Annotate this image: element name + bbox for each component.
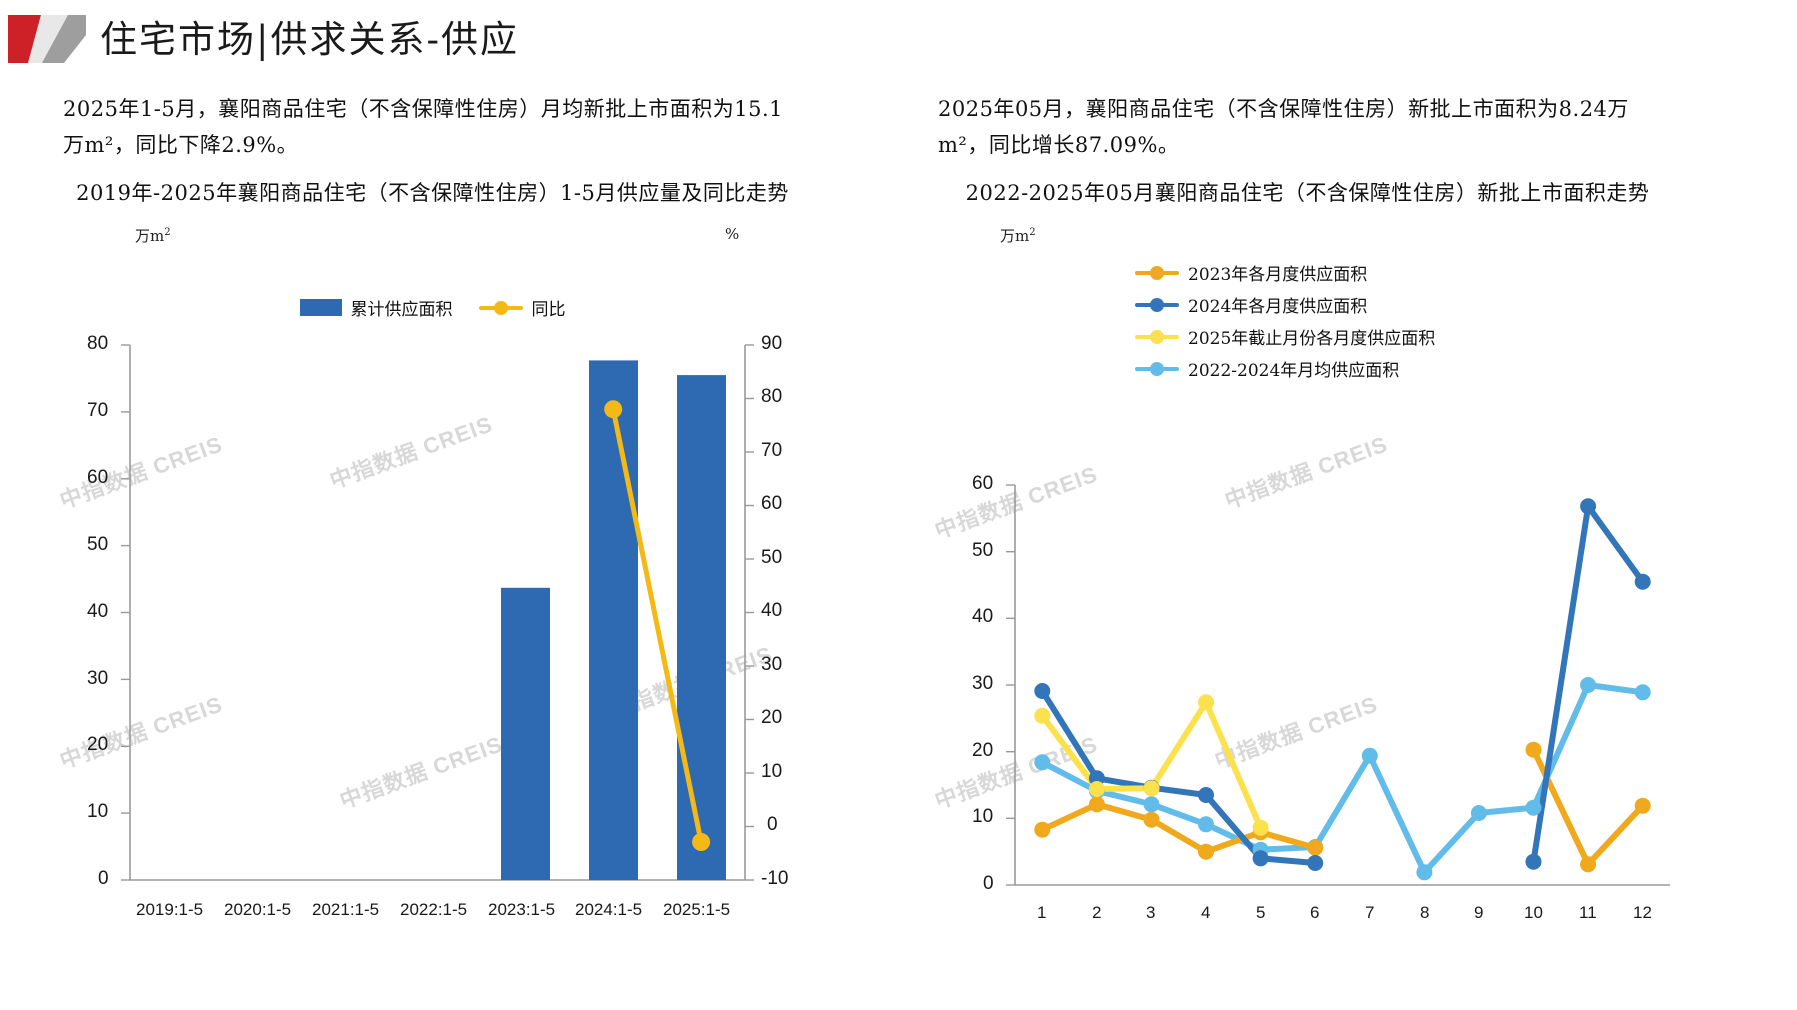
y-tick-30: 30 [972,673,993,695]
right-chart-svg [920,395,1695,955]
right-chart-plot: 中指数据 CREIS 中指数据 CREIS 中指数据 CREIS 中指数据 CR… [920,395,1695,955]
left-chart-title: 2019年-2025年襄阳商品住宅（不含保障性住房）1-5月供应量及同比走势 [55,175,810,211]
left-axis-unit-left: 万m2 [135,225,171,246]
y-tick-10: 10 [972,806,993,828]
creis-logo [8,15,86,63]
x-cat-3: 3 [1146,903,1155,923]
left-chart-legend: 累计供应面积 同比 [45,295,820,320]
bar-2023 [501,588,550,880]
y2-tick-70: 70 [761,440,782,462]
x-cat-2023: 2023:1-5 [488,900,555,920]
y2-tick-90: 90 [761,333,782,355]
y-tick-10: 10 [87,801,108,823]
line-swatch-icon [1135,296,1179,314]
legend-label: 2022-2024年月均供应面积 [1188,356,1399,381]
legend-label: 同比 [532,295,566,320]
y2-tick-0: 0 [767,814,778,836]
x-cat-7: 7 [1365,903,1374,923]
x-cat-12: 12 [1633,903,1652,923]
y2-tick-50: 50 [761,547,782,569]
left-panel: 2025年1-5月，襄阳商品住宅（不含保障性住房）月均新批上市面积为15.1万m… [45,85,820,1000]
left-summary-text: 2025年1-5月，襄阳商品住宅（不含保障性住房）月均新批上市面积为15.1万m… [45,85,820,163]
x-cat-4: 4 [1201,903,1210,923]
y2-tick-10: 10 [761,761,782,783]
x-cat-2021: 2021:1-5 [312,900,379,920]
right-chart-title: 2022-2025年05月襄阳商品住宅（不含保障性住房）新批上市面积走势 [930,175,1685,211]
y2-tick-60: 60 [761,493,782,515]
x-cat-2024: 2024:1-5 [575,900,642,920]
x-cat-11: 11 [1579,903,1597,923]
x-cat-2025: 2025:1-5 [663,900,730,920]
bar-swatch-icon [300,299,342,316]
x-cat-2: 2 [1092,903,1101,923]
x-cat-2020: 2020:1-5 [224,900,291,920]
y-tick-60: 60 [87,467,108,489]
y-tick-0: 0 [98,868,109,890]
bar-2024 [589,360,638,880]
series-avg-2022-2024-line [1042,685,1642,872]
legend-label: 2023年各月度供应面积 [1188,260,1367,285]
x-cat-2019: 2019:1-5 [136,900,203,920]
y2-tick-20: 20 [761,707,782,729]
y-tick-50: 50 [972,540,993,562]
y-tick-70: 70 [87,400,108,422]
line-swatch-icon [1135,328,1179,346]
line-swatch-icon [479,299,523,317]
legend-label: 2025年截止月份各月度供应面积 [1188,324,1435,349]
y-tick-40: 40 [972,606,993,628]
right-axis-unit-left: 万m2 [1000,225,1036,246]
y2-tick-30: 30 [761,654,782,676]
y2-tick-neg10: -10 [761,868,788,890]
line-swatch-icon [1135,264,1179,282]
left-axis-unit-right: % [725,225,739,243]
x-cat-9: 9 [1474,903,1483,923]
y2-tick-40: 40 [761,600,782,622]
page-header: 住宅市场|供求关系-供应 [0,0,1797,80]
legend-item-yoy[interactable]: 同比 [479,295,566,320]
legend-label: 2024年各月度供应面积 [1188,292,1367,317]
y-tick-20: 20 [972,740,993,762]
legend-item-cumulative-supply[interactable]: 累计供应面积 [300,295,453,320]
x-cat-10: 10 [1524,903,1543,923]
yoy-point-2025 [692,833,710,851]
x-cat-6: 6 [1310,903,1319,923]
line-swatch-icon [1135,360,1179,378]
x-cat-1: 1 [1037,903,1046,923]
x-cat-2022: 2022:1-5 [400,900,467,920]
legend-label: 累计供应面积 [351,295,453,320]
x-cat-5: 5 [1256,903,1265,923]
legend-item-2025-monthly-supply[interactable]: 2025年截止月份各月度供应面积 [1135,324,1435,349]
y-tick-30: 30 [87,668,108,690]
legend-item-2022-2024-avg-supply[interactable]: 2022-2024年月均供应面积 [1135,356,1399,381]
yoy-point-2024 [604,400,622,418]
x-cat-8: 8 [1420,903,1429,923]
legend-item-2024-monthly-supply[interactable]: 2024年各月度供应面积 [1135,292,1367,317]
y-tick-60: 60 [972,473,993,495]
left-chart-svg [45,335,820,935]
y-tick-50: 50 [87,534,108,556]
y-tick-80: 80 [87,333,108,355]
right-chart-legend: 2023年各月度供应面积 2024年各月度供应面积 2025年截止月份各月度供应… [1135,260,1435,381]
left-chart-plot: 中指数据 CREIS 中指数据 CREIS 中指数据 CREIS 中指数据 CR… [45,335,820,935]
page-title: 住宅市场|供求关系-供应 [100,9,519,63]
y2-tick-80: 80 [761,386,782,408]
y-tick-20: 20 [87,734,108,756]
y-tick-0: 0 [983,873,994,895]
y-tick-40: 40 [87,601,108,623]
legend-item-2023-monthly-supply[interactable]: 2023年各月度供应面积 [1135,260,1367,285]
right-summary-text: 2025年05月，襄阳商品住宅（不含保障性住房）新批上市面积为8.24万m²，同… [920,85,1695,163]
bar-2025 [677,375,726,880]
right-panel: 2025年05月，襄阳商品住宅（不含保障性住房）新批上市面积为8.24万m²，同… [920,85,1695,1000]
